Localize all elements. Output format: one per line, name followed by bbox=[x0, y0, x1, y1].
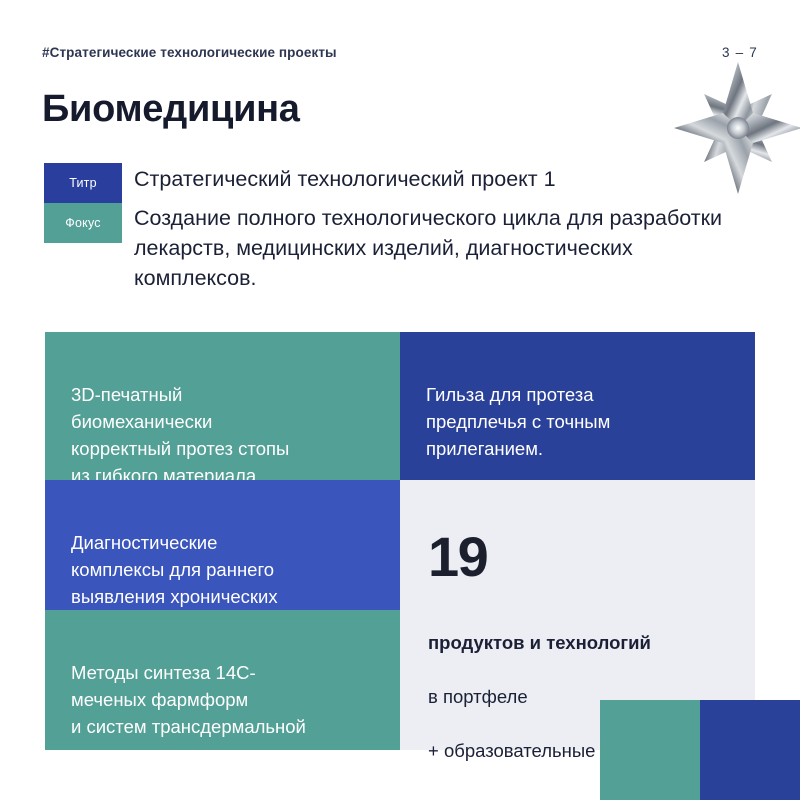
slide-root: #Стратегические технологические проекты … bbox=[0, 0, 800, 800]
corner-block-blue bbox=[700, 700, 800, 800]
card-text: 3D-печатный биомеханически корректный пр… bbox=[71, 384, 289, 486]
slide-header: #Стратегические технологические проекты … bbox=[42, 43, 758, 61]
project-description: Создание полного технологического цикла … bbox=[134, 203, 754, 293]
card-grid: 3D-печатный биомеханически корректный пр… bbox=[45, 332, 755, 750]
page-indicator: 3 – 7 bbox=[722, 45, 758, 60]
project-title: Стратегический технологический проект 1 bbox=[134, 164, 754, 194]
corner-block-teal bbox=[600, 700, 700, 800]
badge-group: Титр Фокус bbox=[44, 163, 122, 243]
card-prosthesis-socket[interactable]: Гильза для протеза предплечья с точным п… bbox=[400, 332, 755, 480]
stat-number: 19 bbox=[428, 527, 729, 587]
badge-titr[interactable]: Титр bbox=[44, 163, 122, 203]
card-text: Гильза для протеза предплечья с точным п… bbox=[426, 384, 610, 459]
badge-fokus-label: Фокус bbox=[65, 216, 100, 230]
badge-titr-label: Титр bbox=[69, 176, 97, 190]
card-synthesis-methods[interactable]: Методы синтеза 14С- меченых фармформ и с… bbox=[45, 610, 400, 750]
header-hashtag: #Стратегические технологические проекты bbox=[42, 45, 337, 60]
stat-caption-strong: продуктов и технологий bbox=[428, 630, 729, 656]
card-text: Методы синтеза 14С- меченых фармформ и с… bbox=[71, 662, 306, 764]
intro-block: Стратегический технологический проект 1 … bbox=[134, 164, 754, 293]
card-3d-prosthesis[interactable]: 3D-печатный биомеханически корректный пр… bbox=[45, 332, 400, 480]
page-title: Биомедицина bbox=[42, 86, 300, 132]
card-diagnostic-complexes[interactable]: Диагностические комплексы для раннего вы… bbox=[45, 480, 400, 610]
badge-fokus[interactable]: Фокус bbox=[44, 203, 122, 243]
